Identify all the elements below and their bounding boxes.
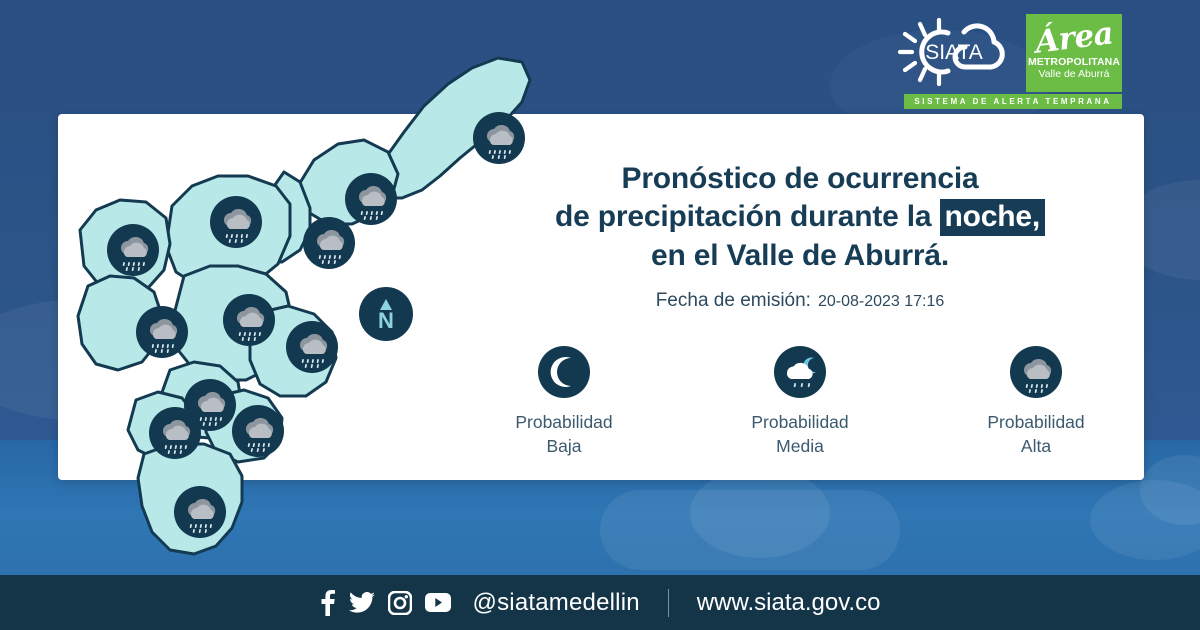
cloud-heavy-rain-icon — [174, 486, 226, 538]
probability-legend: Probabilidad Baja Probabilidad — [470, 346, 1130, 458]
siata-logo-text: SIATA — [925, 41, 983, 64]
area-script-text: Área — [1033, 18, 1114, 58]
emission-date-label: Fecha de emisión: — [656, 290, 811, 312]
emission-date-value: 20-08-2023 17:16 — [818, 293, 944, 311]
map-marker-medellin[interactable] — [223, 294, 275, 346]
title-line-2-text: de precipitación durante la — [555, 200, 931, 233]
cloud-heavy-rain-icon — [473, 112, 525, 164]
north-arrow-icon: N — [359, 287, 413, 341]
facebook-icon[interactable] — [320, 590, 336, 616]
compass-label: N — [378, 308, 394, 333]
area-valle-text: Valle de Aburrá — [1038, 68, 1109, 80]
title-line-3: en el Valle de Aburrá. — [470, 237, 1130, 275]
cloud-heavy-rain-icon — [1010, 346, 1062, 398]
map-marker-caldas[interactable] — [174, 486, 226, 538]
instagram-icon[interactable] — [388, 591, 412, 615]
cloud-heavy-rain-icon — [223, 294, 275, 346]
title-line-1: Pronóstico de ocurrencia — [470, 160, 1130, 198]
legend-label-alta-line1: Probabilidad — [951, 410, 1121, 434]
footer: @siatamedellin www.siata.gov.co — [0, 575, 1200, 630]
cloud-heavy-rain-icon — [136, 306, 188, 358]
map-marker-la-estrella[interactable] — [232, 405, 284, 457]
legend-item-baja: Probabilidad Baja — [479, 346, 649, 458]
cloud-heavy-rain-icon — [210, 196, 262, 248]
twitter-icon[interactable] — [349, 592, 375, 614]
legend-label-media-line1: Probabilidad — [715, 410, 885, 434]
legend-label-media: Probabilidad Media — [715, 410, 885, 458]
siata-banner: SISTEMA DE ALERTA TEMPRANA — [904, 94, 1122, 109]
siata-logo: SIATA — [890, 16, 1018, 88]
map-marker-copacabana[interactable] — [303, 217, 355, 269]
legend-label-alta: Probabilidad Alta — [951, 410, 1121, 458]
map-marker-san-pedro[interactable] — [107, 224, 159, 276]
legend-item-media: Probabilidad Media — [715, 346, 885, 458]
page-title: Pronóstico de ocurrencia de precipitació… — [470, 160, 1130, 275]
cloud-heavy-rain-icon — [107, 224, 159, 276]
logo-area: SIATA Área METROPOLITANA Valle de Aburrá… — [890, 14, 1122, 110]
map-marker-bello[interactable] — [210, 196, 262, 248]
social-handle[interactable]: @siatamedellin — [473, 589, 640, 617]
legend-label-media-line2: Media — [715, 434, 885, 458]
cloud-heavy-rain-icon — [232, 405, 284, 457]
moon-icon — [538, 346, 590, 398]
map-marker-san-jeronimo[interactable] — [136, 306, 188, 358]
decorative-cloud — [690, 468, 830, 558]
siata-banner-text: SISTEMA DE ALERTA TEMPRANA — [914, 97, 1111, 106]
area-metropolitana-logo: Área METROPOLITANA Valle de Aburrá — [1026, 14, 1122, 92]
map-marker-envigado[interactable] — [286, 321, 338, 373]
cloud-heavy-rain-icon — [286, 321, 338, 373]
website-url[interactable]: www.siata.gov.co — [697, 589, 881, 617]
youtube-icon[interactable] — [425, 593, 451, 612]
legend-label-baja-line1: Probabilidad — [479, 410, 649, 434]
title-line-2: de precipitación durante la noche, — [470, 198, 1130, 236]
cloud-heavy-rain-icon — [303, 217, 355, 269]
forecast-content: Pronóstico de ocurrencia de precipitació… — [470, 160, 1130, 458]
map-compass: N — [359, 287, 413, 341]
legend-label-baja-line2: Baja — [479, 434, 649, 458]
cloud-moon-rain-icon — [774, 346, 826, 398]
legend-label-baja: Probabilidad Baja — [479, 410, 649, 458]
map-marker-sabaneta[interactable] — [149, 407, 201, 459]
social-icons — [320, 590, 451, 616]
footer-divider — [668, 589, 669, 617]
title-highlight-noche: noche, — [940, 199, 1045, 236]
cloud-heavy-rain-icon — [149, 407, 201, 459]
emission-date: Fecha de emisión: 20-08-2023 17:16 — [470, 290, 1130, 312]
legend-item-alta: Probabilidad Alta — [951, 346, 1121, 458]
map-marker-barbosa[interactable] — [473, 112, 525, 164]
legend-label-alta-line2: Alta — [951, 434, 1121, 458]
